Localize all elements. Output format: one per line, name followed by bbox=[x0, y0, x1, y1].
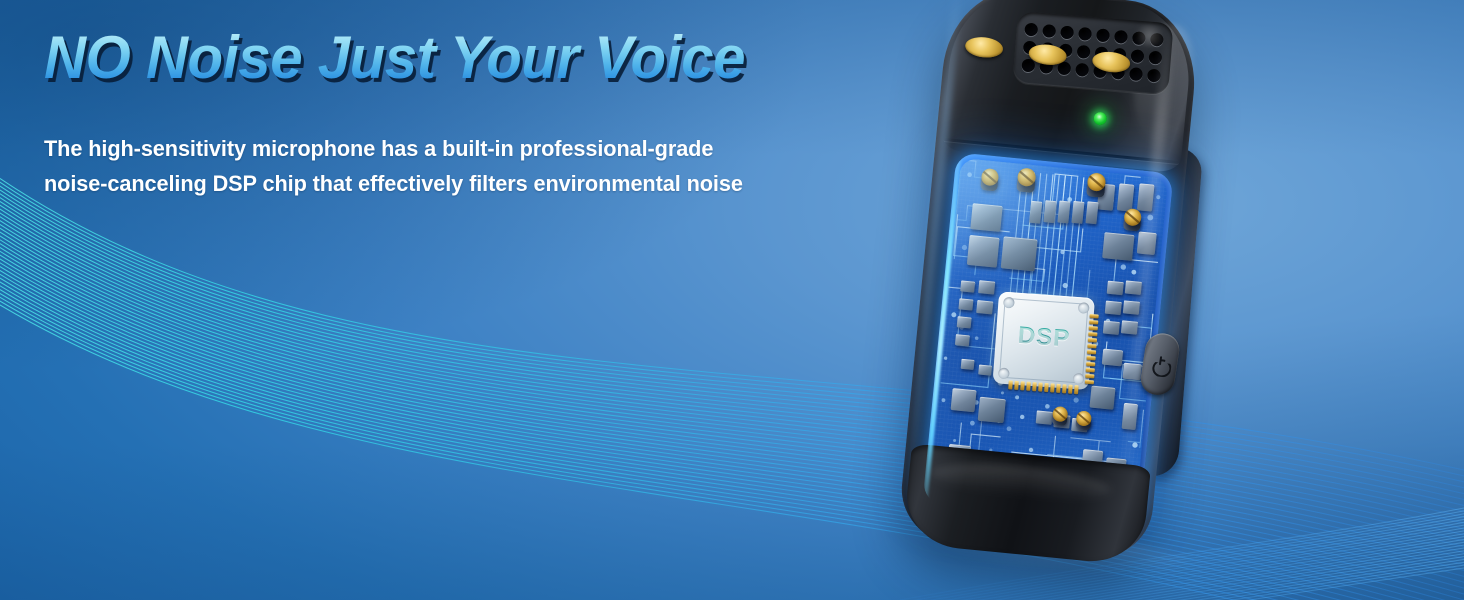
chip-pin bbox=[1087, 344, 1096, 349]
charging-contact bbox=[964, 35, 1004, 59]
pcb-component bbox=[1107, 281, 1124, 295]
pcb-component bbox=[976, 300, 993, 314]
subcopy-line-2: noise-canceling DSP chip that effectivel… bbox=[44, 166, 743, 201]
pcb-component bbox=[958, 298, 973, 310]
pcb-component bbox=[978, 280, 995, 294]
pcb-component bbox=[1085, 201, 1098, 224]
chip-pin bbox=[1050, 383, 1055, 392]
base-gloss bbox=[930, 457, 1112, 504]
chip-pin bbox=[1056, 384, 1061, 393]
pcb-component bbox=[970, 203, 1002, 232]
grille-hole bbox=[1113, 29, 1127, 43]
subcopy: The high-sensitivity microphone has a bu… bbox=[44, 131, 743, 201]
pcb-component bbox=[1036, 410, 1053, 424]
chip-notch bbox=[1003, 297, 1015, 309]
pcb-component bbox=[978, 365, 992, 376]
chip-pin bbox=[1038, 382, 1043, 391]
grille-hole bbox=[1130, 49, 1144, 63]
chip-pin bbox=[1062, 384, 1067, 393]
chip-pin bbox=[1087, 350, 1096, 355]
chip-pin bbox=[1026, 382, 1031, 391]
subcopy-line-1: The high-sensitivity microphone has a bu… bbox=[44, 131, 743, 166]
grille-hole bbox=[1060, 25, 1074, 39]
chip-notch bbox=[1073, 373, 1085, 385]
chip-pin bbox=[1032, 382, 1037, 391]
chip-pin bbox=[1088, 332, 1097, 337]
pcb-component bbox=[955, 334, 970, 346]
chip-pin bbox=[1086, 368, 1095, 373]
chip-pin bbox=[1088, 338, 1097, 343]
chip-pin bbox=[1068, 385, 1073, 394]
pcb-component bbox=[1001, 236, 1038, 271]
pcb-component bbox=[1043, 200, 1056, 223]
chip-pin bbox=[1085, 374, 1094, 379]
pcb-component bbox=[961, 359, 975, 370]
chip-pin bbox=[1086, 356, 1095, 361]
microphone-device: DSP bbox=[857, 0, 1242, 583]
charging-contact bbox=[1028, 43, 1068, 67]
pcb-component bbox=[1029, 201, 1042, 224]
dsp-chip-label: DSP bbox=[1017, 322, 1071, 354]
pcb-component bbox=[1105, 301, 1122, 315]
grille-hole bbox=[1042, 24, 1056, 38]
grille-hole bbox=[1096, 28, 1110, 42]
chip-pin bbox=[1086, 362, 1095, 367]
pcb-component bbox=[978, 397, 1006, 423]
pcb-component bbox=[951, 388, 977, 412]
page-title: NO Noise Just Your Voice bbox=[44, 26, 745, 89]
grille-hole bbox=[1129, 67, 1143, 81]
chip-pin bbox=[1085, 380, 1094, 385]
pcb-component bbox=[1071, 201, 1084, 224]
pcb-component bbox=[960, 280, 975, 292]
dsp-chip: DSP bbox=[993, 291, 1095, 390]
chip-pin bbox=[1089, 326, 1098, 331]
pcb-component bbox=[1103, 320, 1120, 334]
grille-hole bbox=[1078, 26, 1092, 40]
chip-notch bbox=[998, 368, 1010, 380]
charging-contact bbox=[1091, 50, 1131, 74]
product-image: DSP bbox=[885, 0, 1305, 600]
pcb-component bbox=[1102, 349, 1123, 367]
pcb-component bbox=[1089, 386, 1115, 410]
pcb-component bbox=[1057, 201, 1070, 224]
chip-pin bbox=[1089, 320, 1098, 325]
chip-notch bbox=[1078, 302, 1090, 314]
pcb-component bbox=[967, 235, 1000, 268]
pcb-component bbox=[957, 316, 972, 328]
product-banner: NO Noise Just Your Voice The high-sensit… bbox=[0, 0, 1464, 600]
chip-pin bbox=[1008, 380, 1013, 389]
pcb-component bbox=[1117, 183, 1135, 211]
power-icon bbox=[1150, 355, 1169, 374]
chip-pin bbox=[1044, 383, 1049, 392]
chip-pin bbox=[1014, 381, 1019, 390]
chip-pin bbox=[1074, 385, 1079, 394]
pcb-component bbox=[1102, 232, 1134, 261]
grille-hole bbox=[1024, 22, 1038, 36]
chip-pin bbox=[1090, 314, 1099, 319]
chip-pin bbox=[1020, 381, 1025, 390]
